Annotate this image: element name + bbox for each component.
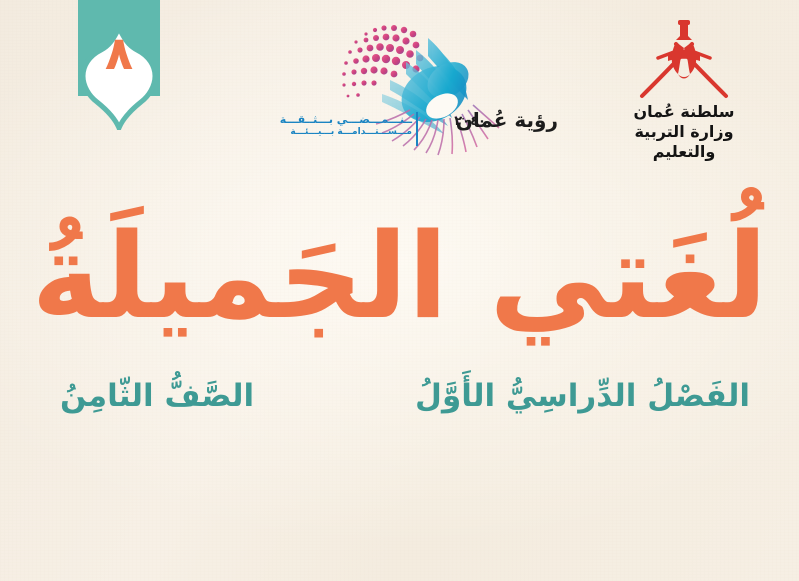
grade-badge: ٨ bbox=[78, 0, 160, 140]
ministry-name: وزارة التربية والتعليم bbox=[608, 122, 760, 162]
ministry-of-education-logo: سلطنة عُمان وزارة التربية والتعليم bbox=[608, 14, 760, 160]
ministry-country-name: سلطنة عُمان bbox=[608, 102, 760, 122]
semester-label: الفَصْلُ الدِّراسِيُّ الأَوَّلُ bbox=[415, 378, 750, 414]
book-cover: ٨ bbox=[0, 0, 799, 581]
page-title: لُغَتي الجَميلَةُ bbox=[0, 212, 799, 342]
vision-tagline-line2: مـــســـتـــدامـــة بـــيـــئـــة bbox=[282, 127, 412, 138]
subtitle-row: الصَّفُّ الثّامِنُ الفَصْلُ الدِّراسِيُّ… bbox=[60, 378, 750, 414]
vision-year: ٢٠٤٠ bbox=[454, 114, 486, 129]
oman-vision-2040-logo: رؤية عُمان ٢٠٤٠ ــنـــمـــضـــي بـــثــق… bbox=[282, 8, 558, 160]
vision-tagline-block: ــنـــمـــضـــي بـــثــقـــة مـــســـتــ… bbox=[282, 114, 412, 137]
vision-tagline-line1: ــنـــمـــضـــي بـــثــقـــة bbox=[282, 114, 412, 127]
oman-national-emblem-icon bbox=[608, 14, 760, 100]
grade-number: ٨ bbox=[78, 30, 160, 76]
vision-divider bbox=[416, 112, 418, 146]
grade-label: الصَّفُّ الثّامِنُ bbox=[60, 378, 254, 414]
